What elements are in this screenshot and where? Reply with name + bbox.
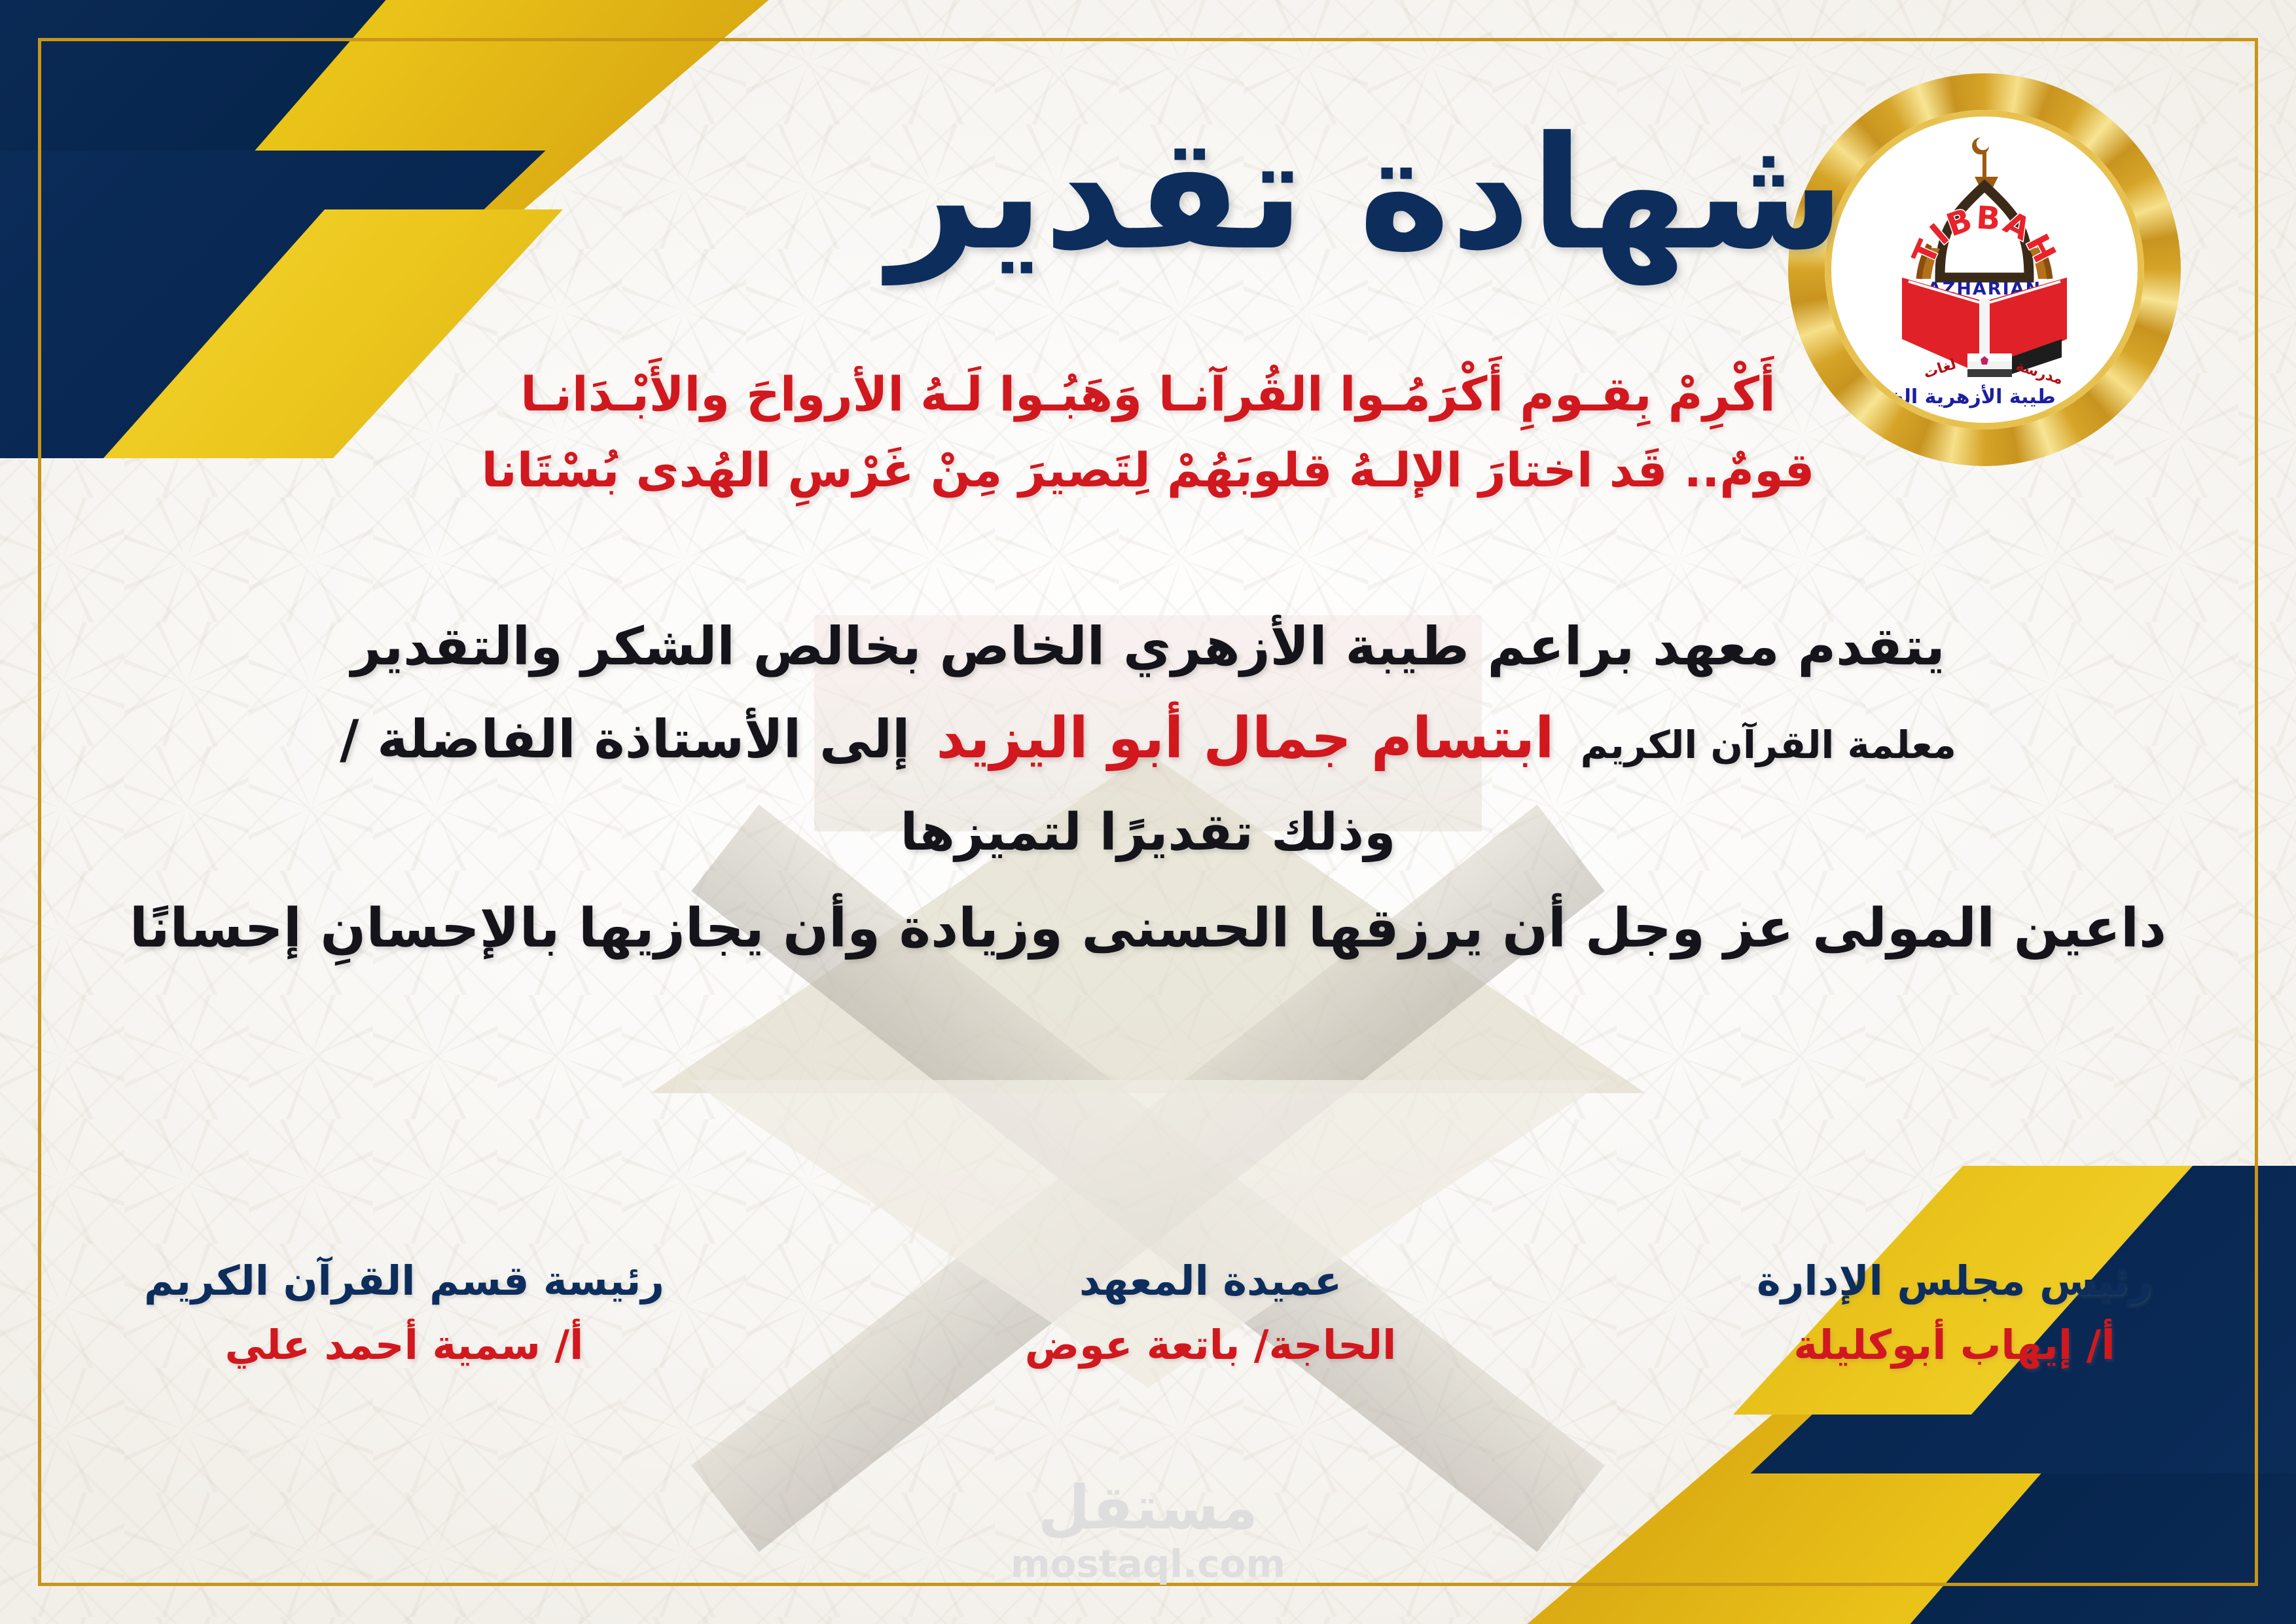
signature-title: عميدة المعهد — [1025, 1257, 1397, 1305]
signature-title: رئيسة قسم القرآن الكريم — [144, 1257, 664, 1305]
body-prayer-line: داعين المولى عز وجل أن يرزقها الحسنى وزي… — [0, 898, 2296, 960]
signature-title: رئيس مجلس الإدارة — [1757, 1257, 2152, 1305]
page-title: شهادة تقدير — [856, 117, 1877, 272]
signature-block-institute-dean: عميدة المعهد الحاجة/ باتعة عوض — [1025, 1257, 1397, 1370]
recipient-row: معلمة القرآن الكريم ابتسام جمال أبو اليز… — [0, 706, 2296, 771]
certificate-canvas: TIBBAH AZHARIAN Language — [0, 0, 2296, 1624]
signature-block-board-chairman: رئيس مجلس الإدارة أ/ إيهاب أبوكليلة — [1757, 1257, 2152, 1370]
recipient-role: معلمة القرآن الكريم — [1581, 723, 1956, 771]
signature-block-quran-department-head: رئيسة قسم القرآن الكريم أ/ سمية أحمد علي — [144, 1257, 664, 1370]
quran-verse-line-1: أَكْرِمْ بِقـومِ أَكْرَمُـوا القُرآنـا و… — [0, 367, 2296, 422]
body-reason-line: وذلك تقديرًا لتميزها — [0, 804, 2296, 863]
recipient-prefix: إلى الأستاذة الفاضلة / — [340, 709, 910, 770]
quran-verse-line-2: قومٌ.. قَد اختارَ الإلـهُ قلوبَهُمْ لِتَ… — [0, 442, 2296, 498]
signature-row: رئيس مجلس الإدارة أ/ إيهاب أبوكليلة عميد… — [144, 1257, 2152, 1370]
body-intro-line: يتقدم معهد براعم طيبة الأزهري الخاص بخال… — [0, 617, 2296, 677]
signature-name: أ/ سمية أحمد علي — [144, 1321, 664, 1369]
recipient-name: ابتسام جمال أبو اليزيد — [936, 706, 1554, 771]
signature-name: أ/ إيهاب أبوكليلة — [1757, 1321, 2152, 1369]
signature-name: الحاجة/ باتعة عوض — [1025, 1321, 1397, 1369]
certificate-content: شهادة تقدير أَكْرِمْ بِقـومِ أَكْرَمُـوا… — [0, 0, 2296, 1624]
